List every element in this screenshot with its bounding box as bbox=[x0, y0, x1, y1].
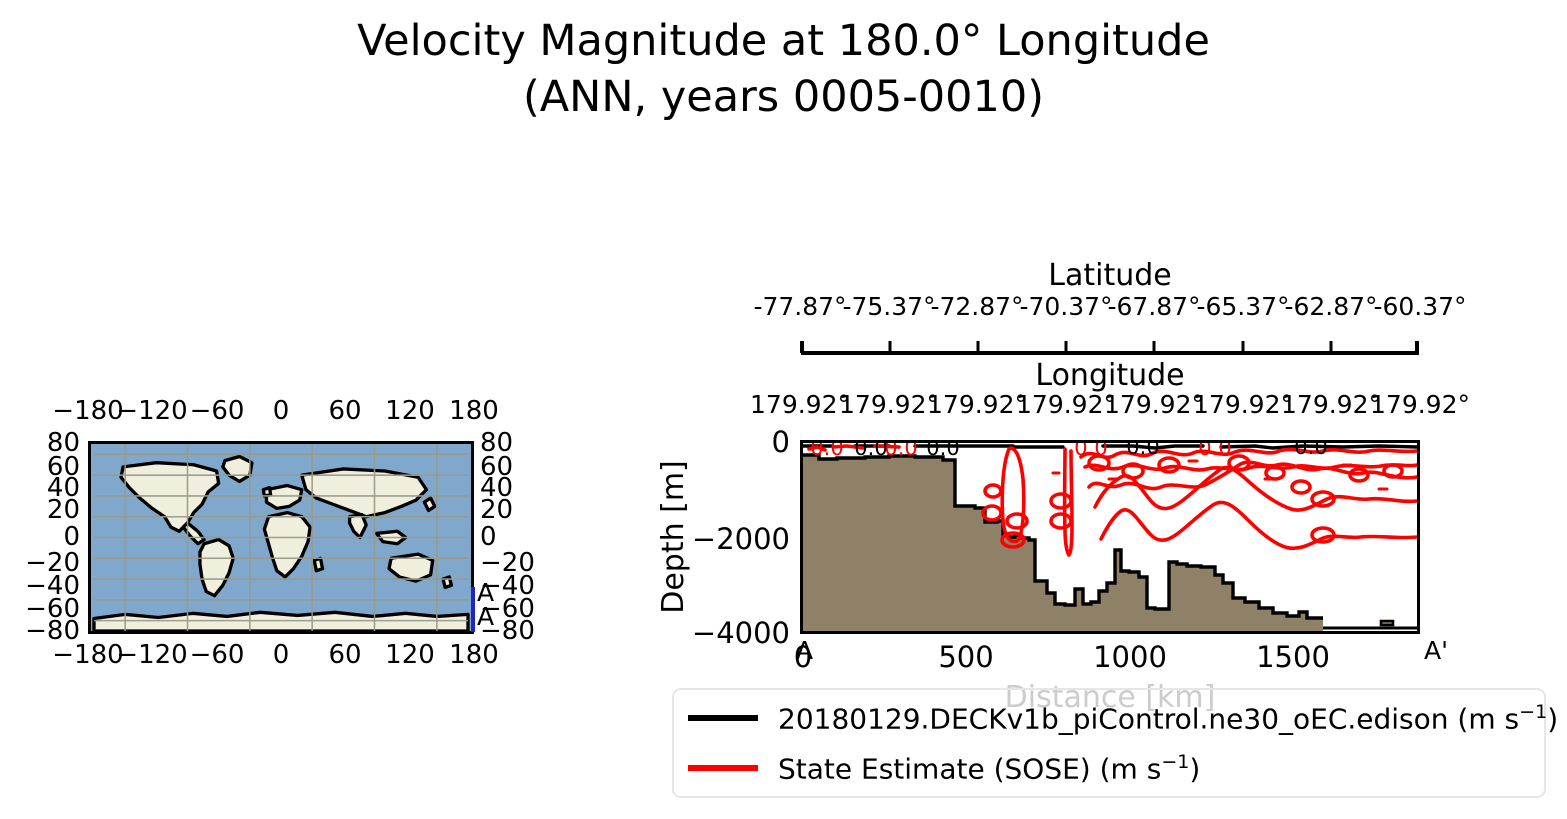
contour-label-black-0: 0.0 bbox=[854, 443, 887, 460]
lon-tick-7: 179.92° bbox=[1370, 390, 1470, 419]
cross-section-axes[interactable]: 0.0 0.0 0.0 0.0 0.0 0.0 0.0 0.0 bbox=[800, 440, 1420, 634]
lat-tick-1: -75.37° bbox=[842, 292, 935, 321]
legend-label-model-exp: −1 bbox=[1519, 701, 1547, 723]
distance-tick-labels: 0 500 1000 1500 bbox=[800, 640, 1420, 672]
distance-tick-3: 1500 bbox=[1256, 640, 1330, 674]
legend-label-sose-tail: ) bbox=[1189, 752, 1200, 785]
lon-tick-2: 179.92° bbox=[927, 390, 1027, 419]
contour-label-red-0: 0.0 bbox=[810, 443, 843, 460]
contour-label-red-3: 0.0 bbox=[1198, 443, 1231, 460]
contour-label-black-1: 0.0 bbox=[926, 443, 959, 460]
lat-tick-3: -70.37° bbox=[1019, 292, 1112, 321]
legend-label-model-tail: ) bbox=[1547, 702, 1558, 735]
depth-tick-2: −4000 bbox=[692, 616, 790, 650]
latitude-tick-labels: -77.87° -75.37° -72.87° -70.37° -67.87° … bbox=[800, 292, 1420, 322]
depth-tick-0: 0 bbox=[772, 425, 790, 459]
lon-tick-6: 179.92° bbox=[1281, 390, 1381, 419]
section-endpoint-a: A bbox=[796, 636, 813, 665]
depth-tick-1: −2000 bbox=[692, 522, 790, 556]
section-endpoint-a-prime: A' bbox=[1424, 636, 1448, 665]
secondary-axis-ticks bbox=[800, 341, 1420, 355]
legend-label-sose: State Estimate (SOSE) (m s−1) bbox=[778, 751, 1200, 785]
cross-section-graphic: 0.0 0.0 0.0 0.0 0.0 0.0 0.0 0.0 bbox=[803, 443, 1417, 631]
lon-tick-3: 179.92° bbox=[1016, 390, 1116, 419]
lat-tick-2: -72.87° bbox=[930, 292, 1023, 321]
lon-tick-5: 179.92° bbox=[1193, 390, 1293, 419]
latitude-axis-title: Latitude bbox=[800, 258, 1420, 293]
legend-label-model: 20180129.DECKv1b_piControl.ne30_oEC.edis… bbox=[778, 701, 1558, 735]
legend-label-sose-exp: −1 bbox=[1161, 751, 1189, 773]
legend-entry-sose[interactable]: State Estimate (SOSE) (m s−1) bbox=[688, 748, 1200, 788]
depth-tick-labels: 0 −2000 −4000 bbox=[640, 440, 790, 634]
distance-tick-2: 1000 bbox=[1093, 640, 1167, 674]
contour-label-red-2: 0.0 bbox=[1074, 443, 1107, 460]
lat-tick-4: -67.87° bbox=[1107, 292, 1200, 321]
longitude-tick-labels: 179.92° 179.92° 179.92° 179.92° 179.92° … bbox=[800, 390, 1420, 420]
bathymetry-knoll bbox=[1381, 621, 1393, 625]
lon-tick-1: 179.92° bbox=[839, 390, 939, 419]
contour-label-red-1: 0.0 bbox=[884, 443, 917, 460]
legend-label-model-text: 20180129.DECKv1b_piControl.ne30_oEC.edis… bbox=[778, 702, 1519, 735]
distance-tick-1: 500 bbox=[938, 640, 993, 674]
lat-tick-6: -62.87° bbox=[1284, 292, 1377, 321]
lat-tick-5: -65.37° bbox=[1196, 292, 1289, 321]
figure-root: Velocity Magnitude at 180.0° Longitude (… bbox=[0, 0, 1567, 819]
legend[interactable]: 20180129.DECKv1b_piControl.ne30_oEC.edis… bbox=[672, 688, 1546, 798]
legend-entry-model[interactable]: 20180129.DECKv1b_piControl.ne30_oEC.edis… bbox=[688, 698, 1558, 738]
lon-tick-4: 179.92° bbox=[1104, 390, 1204, 419]
legend-label-sose-text: State Estimate (SOSE) (m s bbox=[778, 752, 1161, 785]
longitude-axis-title: Longitude bbox=[800, 358, 1420, 393]
contour-label-black-3: 0.0 bbox=[1294, 443, 1327, 459]
lat-tick-7: -60.37° bbox=[1373, 292, 1466, 321]
contour-label-black-2: 0.0 bbox=[1126, 443, 1159, 459]
legend-swatch-sose bbox=[688, 765, 758, 771]
legend-swatch-model bbox=[688, 715, 758, 721]
lat-tick-0: -77.87° bbox=[753, 292, 846, 321]
